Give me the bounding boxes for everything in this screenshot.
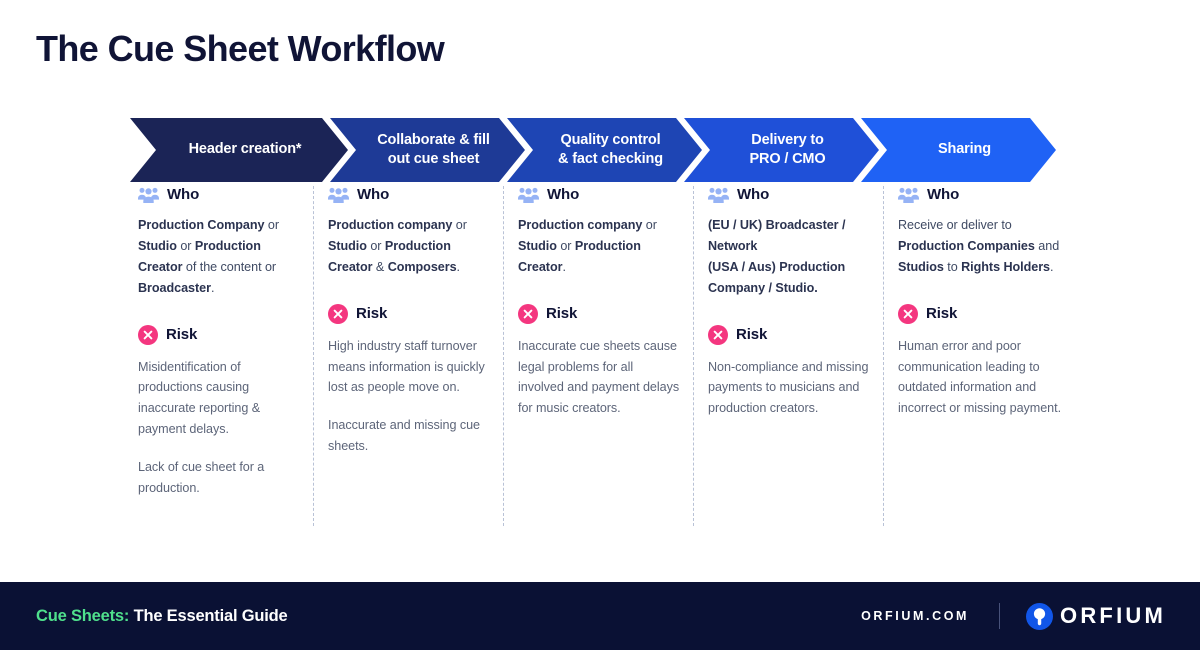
who-title: Who: [737, 186, 769, 203]
workflow-step-5[interactable]: Sharing: [861, 118, 1056, 182]
risk-heading: Risk: [138, 325, 302, 345]
who-text: Receive or deliver to Production Compani…: [898, 215, 1062, 278]
risk-paragraph: High industry staff turnover means infor…: [328, 336, 492, 399]
risk-heading: Risk: [328, 304, 492, 324]
workflow-columns: Who Production Company or Studio or Prod…: [130, 186, 1080, 531]
who-heading: Who: [138, 186, 302, 203]
footer-bar: Cue Sheets: The Essential Guide ORFIUM.C…: [0, 582, 1200, 650]
risk-paragraphs: Non-compliance and missing payments to m…: [708, 357, 872, 420]
orfium-wordmark: ORFIUM: [1060, 603, 1166, 629]
risk-paragraph: Non-compliance and missing payments to m…: [708, 357, 872, 420]
workflow-step-1[interactable]: Header creation*: [130, 118, 348, 182]
footer-title-text: The Essential Guide: [134, 607, 288, 625]
risk-section: Risk Human error and poor communication …: [898, 304, 1062, 420]
who-title: Who: [357, 186, 389, 203]
column-divider: [313, 186, 314, 526]
who-heading: Who: [898, 186, 1062, 203]
risk-paragraphs: Human error and poor communication leadi…: [898, 336, 1062, 420]
column-divider: [693, 186, 694, 526]
risk-section: Risk Non-compliance and missing payments…: [708, 325, 872, 420]
workflow-banner: Header creation* Collaborate & fillout c…: [130, 118, 1070, 182]
who-title: Who: [927, 186, 959, 203]
who-text: Production company or Studio or Producti…: [518, 215, 682, 278]
column-divider: [883, 186, 884, 526]
footer-guide-title: Cue Sheets: The Essential Guide: [36, 607, 287, 626]
workflow-step-1-label: Header creation*: [156, 140, 334, 159]
footer-brand-area: ORFIUM.COM ORFIUM: [861, 603, 1166, 630]
workflow-step-2-label: Collaborate & fillout cue sheet: [356, 131, 511, 169]
x-circle-icon: [898, 304, 918, 324]
people-icon: [708, 187, 729, 203]
workflow-step-5-label: Sharing: [887, 140, 1042, 159]
workflow-step-3-label: Quality control& fact checking: [533, 131, 688, 169]
who-heading: Who: [518, 186, 682, 203]
footer-website-link[interactable]: ORFIUM.COM: [861, 609, 969, 623]
risk-title: Risk: [356, 305, 387, 322]
workflow-column-4: Who (EU / UK) Broadcaster / Network(USA …: [700, 186, 890, 531]
orfium-logo-icon: [1026, 603, 1053, 630]
risk-section: Risk Inaccurate cue sheets cause legal p…: [518, 304, 682, 420]
risk-paragraph: Lack of cue sheet for a production.: [138, 457, 302, 499]
people-icon: [138, 187, 159, 203]
footer-accent-text: Cue Sheets:: [36, 607, 129, 625]
people-icon: [898, 187, 919, 203]
x-circle-icon: [138, 325, 158, 345]
risk-title: Risk: [926, 305, 957, 322]
risk-paragraph: Inaccurate cue sheets cause legal proble…: [518, 336, 682, 420]
people-icon: [518, 187, 539, 203]
who-title: Who: [547, 186, 579, 203]
workflow-step-2[interactable]: Collaborate & fillout cue sheet: [330, 118, 525, 182]
column-divider: [503, 186, 504, 526]
risk-section: Risk High industry staff turnover means …: [328, 304, 492, 457]
x-circle-icon: [518, 304, 538, 324]
risk-paragraph: Human error and poor communication leadi…: [898, 336, 1062, 420]
risk-paragraphs: Inaccurate cue sheets cause legal proble…: [518, 336, 682, 420]
who-text: (EU / UK) Broadcaster / Network(USA / Au…: [708, 215, 872, 299]
workflow-column-3: Who Production company or Studio or Prod…: [510, 186, 700, 531]
people-icon: [328, 187, 349, 203]
x-circle-icon: [328, 304, 348, 324]
risk-heading: Risk: [518, 304, 682, 324]
risk-title: Risk: [736, 326, 767, 343]
workflow-step-4-label: Delivery toPRO / CMO: [710, 131, 865, 169]
footer-divider: [999, 603, 1000, 629]
page-title: The Cue Sheet Workflow: [36, 28, 444, 70]
risk-title: Risk: [166, 326, 197, 343]
risk-paragraphs: Misidentification of productions causing…: [138, 357, 302, 499]
risk-title: Risk: [546, 305, 577, 322]
risk-paragraph: Inaccurate and missing cue sheets.: [328, 415, 492, 457]
risk-paragraphs: High industry staff turnover means infor…: [328, 336, 492, 457]
who-title: Who: [167, 186, 199, 203]
who-text: Production company or Studio or Producti…: [328, 215, 492, 278]
who-heading: Who: [708, 186, 872, 203]
risk-heading: Risk: [898, 304, 1062, 324]
workflow-column-2: Who Production company or Studio or Prod…: [320, 186, 510, 531]
risk-section: Risk Misidentification of productions ca…: [138, 325, 302, 499]
x-circle-icon: [708, 325, 728, 345]
risk-heading: Risk: [708, 325, 872, 345]
workflow-column-1: Who Production Company or Studio or Prod…: [130, 186, 320, 531]
risk-paragraph: Misidentification of productions causing…: [138, 357, 302, 441]
orfium-brand[interactable]: ORFIUM: [1026, 603, 1166, 630]
workflow-column-5: Who Receive or deliver to Production Com…: [890, 186, 1080, 531]
who-text: Production Company or Studio or Producti…: [138, 215, 302, 299]
workflow-step-3[interactable]: Quality control& fact checking: [507, 118, 702, 182]
who-heading: Who: [328, 186, 492, 203]
workflow-step-4[interactable]: Delivery toPRO / CMO: [684, 118, 879, 182]
